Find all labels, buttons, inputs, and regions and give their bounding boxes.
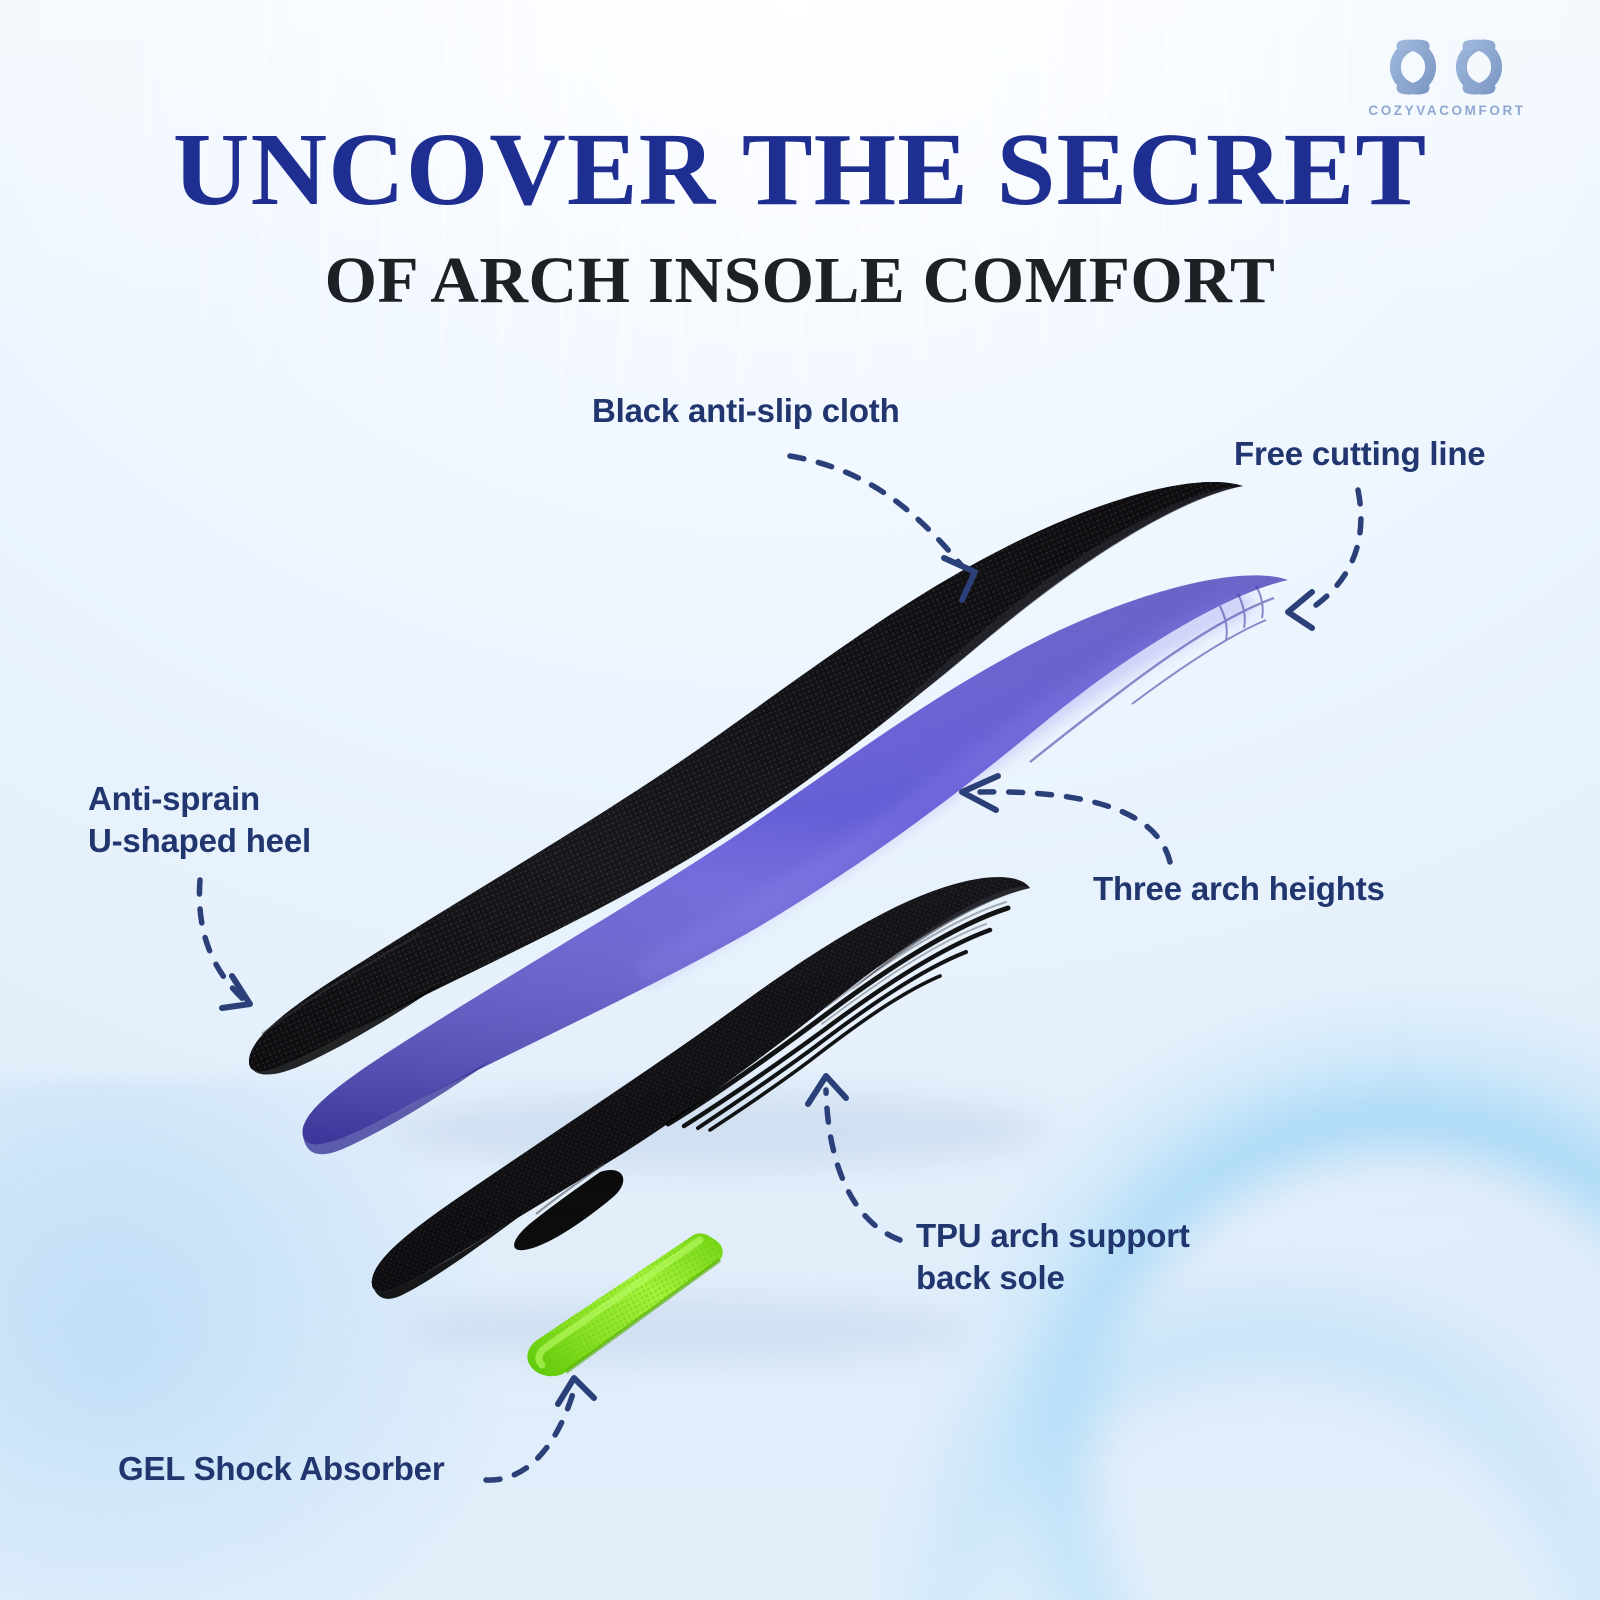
label-three-arch-heights: Three arch heights	[1093, 868, 1385, 910]
arrowhead-gel	[558, 1378, 594, 1404]
arrow-path-arch	[980, 792, 1170, 862]
label-gel-shock-absorber: GEL Shock Absorber	[118, 1448, 444, 1490]
purple-tpu-arch-layer	[303, 575, 1288, 1154]
label-anti-sprain-u-shaped-heel: Anti-sprain U-shaped heel	[88, 778, 311, 861]
arrowhead-cutting	[1288, 592, 1312, 628]
label-tpu-arch-support-back-sole: TPU arch support back sole	[916, 1215, 1190, 1298]
shadow-sole	[410, 1296, 970, 1364]
label-free-cutting-line: Free cutting line	[1234, 433, 1485, 475]
label-black-anti-slip-cloth: Black anti-slip cloth	[592, 390, 900, 432]
arrow-path-cutting	[1312, 490, 1361, 608]
black-anti-slip-cloth-layer	[249, 482, 1243, 1075]
cloth-mesh-texture	[249, 482, 1243, 1072]
infographic-canvas: COZYVACOMFORT UNCOVER THE SECRET OF ARCH…	[0, 0, 1600, 1600]
arrow-path-cloth	[790, 456, 962, 566]
